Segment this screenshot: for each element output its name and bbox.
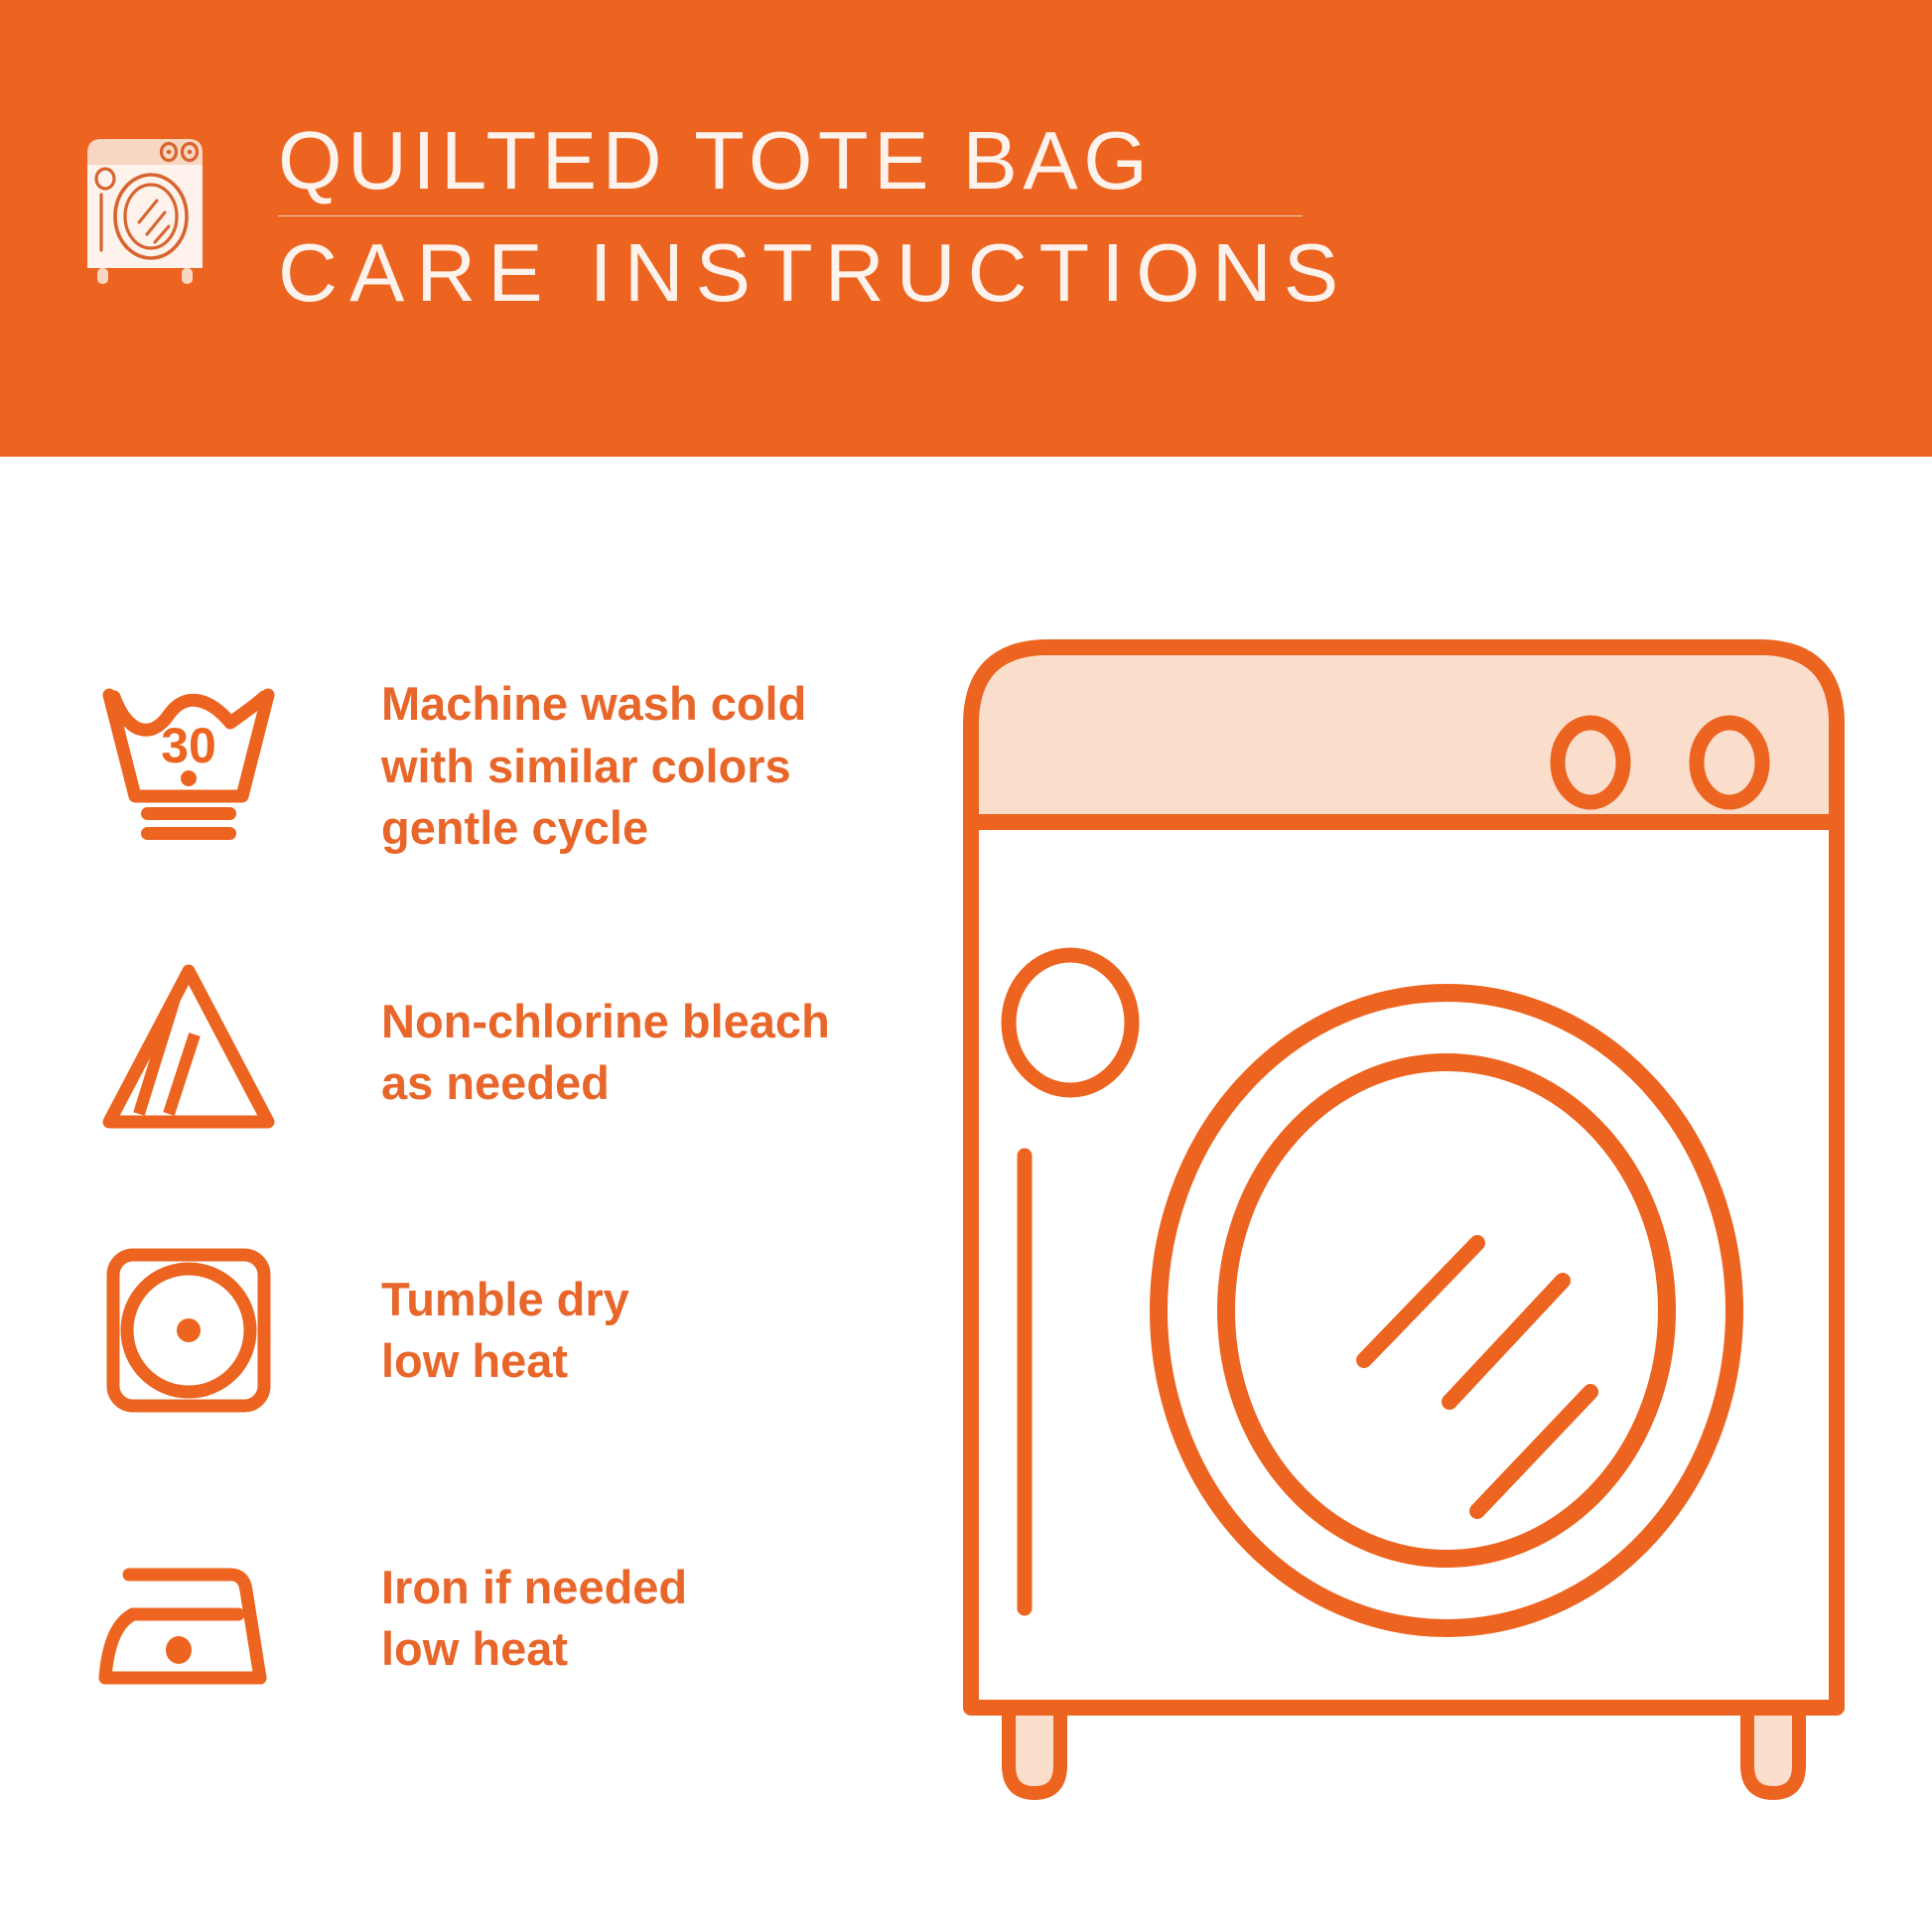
bleach-triangle-icon [89,953,288,1152]
wash-temperature-value: 30 [161,718,216,773]
care-label-bleach: Non-chlorine bleach as needed [381,991,830,1115]
care-row-bleach: Non-chlorine bleach as needed [89,953,903,1152]
care-row-tumble-dry: Tumble dry low heat [89,1231,903,1430]
tumble-dry-icon [89,1231,288,1430]
care-label-machine-wash: Machine wash cold with similar colors ge… [381,673,806,860]
washing-machine-illustration [953,625,1857,1817]
care-instructions-poster: QUILTED TOTE BAG CARE INSTRUCTIONS 30 Ma… [0,0,1932,1932]
care-row-machine-wash: 30 Machine wash cold with similar colors… [89,667,903,866]
care-label-iron: Iron if needed low heat [381,1557,687,1681]
header-band: QUILTED TOTE BAG CARE INSTRUCTIONS [0,0,1932,457]
page-title: QUILTED TOTE BAG [278,119,1330,202]
washing-machine-icon [77,131,212,290]
page-subtitle: CARE INSTRUCTIONS [278,228,1330,318]
washer-legs [1009,1708,1799,1793]
wash-tub-30-icon: 30 [89,667,288,866]
header-title-block: QUILTED TOTE BAG CARE INSTRUCTIONS [278,119,1330,318]
care-row-iron: Iron if needed low heat [89,1519,903,1718]
iron-icon [89,1519,288,1718]
title-divider [278,215,1303,216]
care-label-tumble-dry: Tumble dry low heat [381,1269,629,1393]
